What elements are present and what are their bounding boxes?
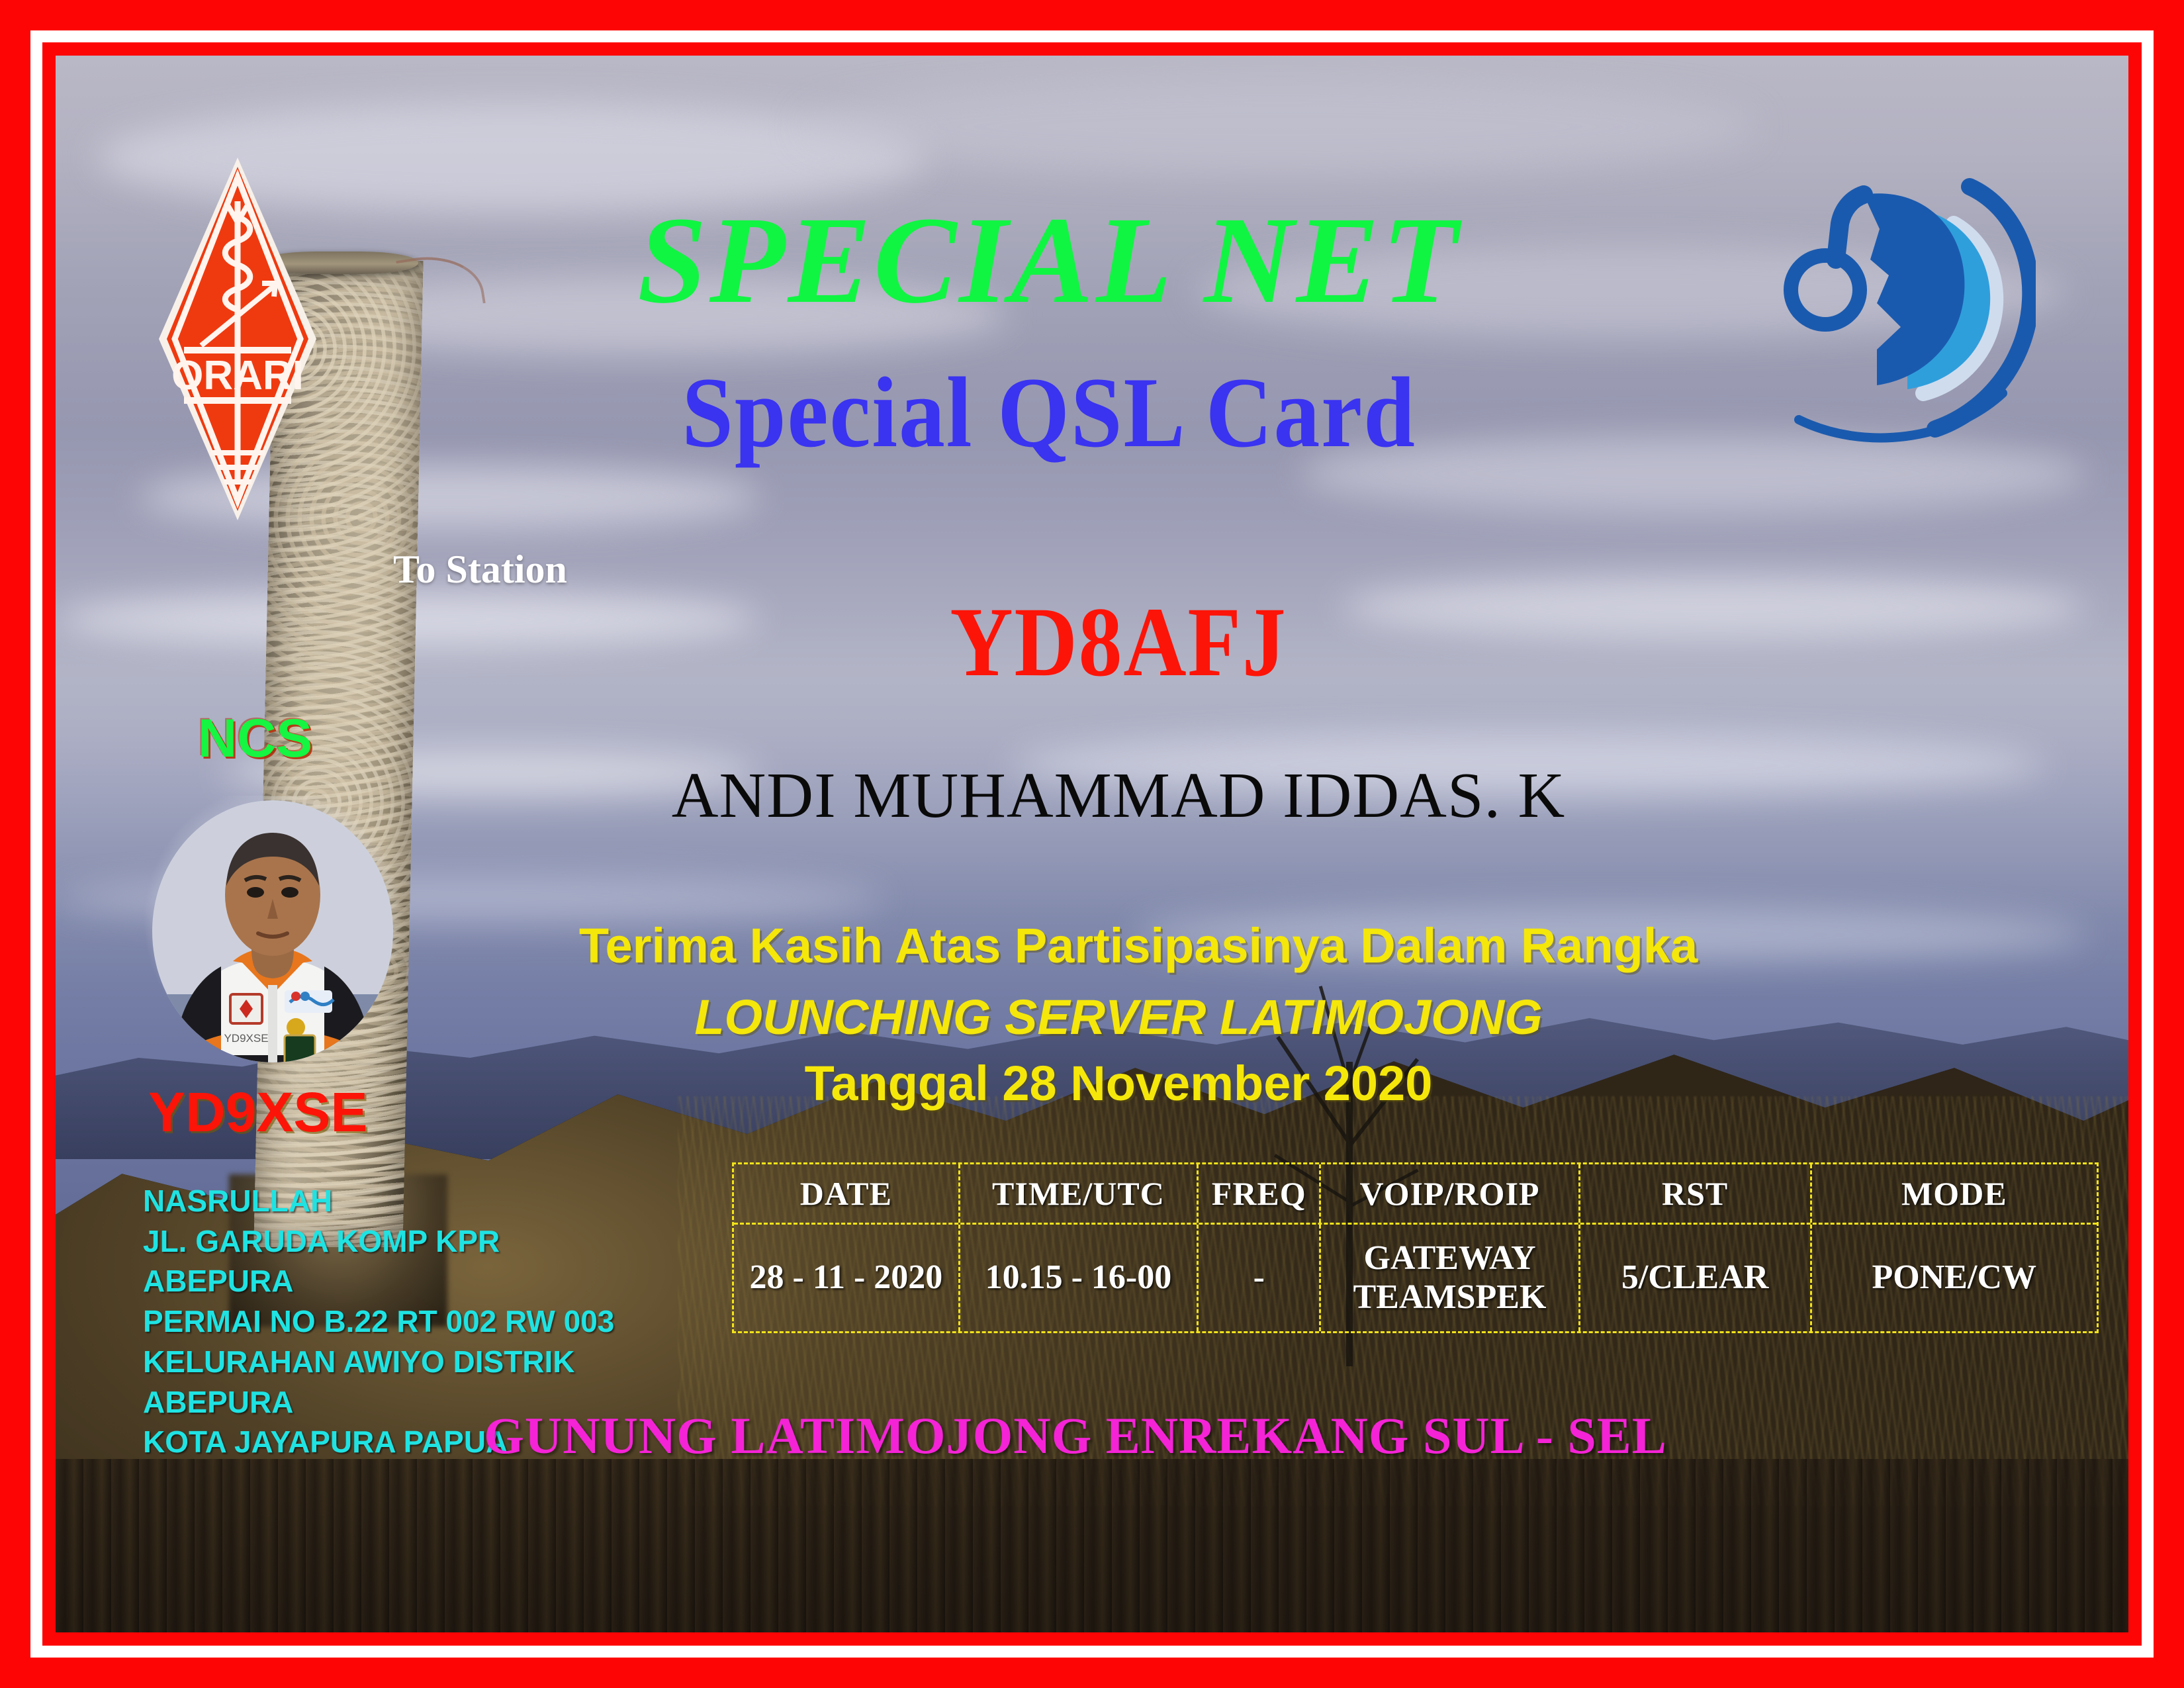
- table-cell-date: 28 - 11 - 2020: [734, 1225, 960, 1331]
- page-subtitle: Special QSL Card: [95, 355, 2002, 470]
- qso-table: DATE TIME/UTC FREQ VOIP/ROIP RST MODE 28…: [732, 1162, 2099, 1333]
- table-header-row: DATE TIME/UTC FREQ VOIP/ROIP RST MODE: [734, 1164, 2097, 1223]
- card-photo-background: ORARI SPECIAL NET Special QSL: [56, 56, 2128, 1632]
- table-header-voip-roip: VOIP/ROIP: [1321, 1164, 1580, 1223]
- ncs-label: NCS: [198, 708, 312, 770]
- footer-website: Address : amatir.latimojong.com: [1300, 1631, 1985, 1632]
- table-header-time: TIME/UTC: [960, 1164, 1199, 1223]
- table-cell-freq: -: [1199, 1225, 1321, 1331]
- avatar: YD9XSE: [134, 796, 412, 1067]
- table-cell-time: 10.15 - 16-00: [960, 1225, 1199, 1331]
- qsl-card: ORARI SPECIAL NET Special QSL: [0, 0, 2184, 1688]
- page-title: SPECIAL NET: [56, 188, 2085, 332]
- table-header-rst: RST: [1580, 1164, 1812, 1223]
- station-callsign: YD8AFJ: [206, 585, 2030, 699]
- location-label: GUNUNG LATIMOJONG ENREKANG SUL - SEL: [56, 1406, 2112, 1466]
- table-cell-voip-roip: GATEWAY TEAMSPEK: [1321, 1225, 1580, 1331]
- table-header-freq: FREQ: [1199, 1164, 1321, 1223]
- address-line: NASRULLAH: [143, 1181, 614, 1221]
- address-line: ABEPURA: [143, 1261, 614, 1301]
- table-header-mode: MODE: [1812, 1164, 2097, 1223]
- address-line: KELURAHAN AWIYO DISTRIK: [143, 1342, 614, 1382]
- table-cell-voip-roip-line2: TEAMSPEK: [1353, 1278, 1547, 1317]
- ncs-callsign: YD9XSE: [148, 1080, 368, 1145]
- dark-foreground-strip: [56, 1459, 2128, 1632]
- table-cell-mode: PONE/CW: [1812, 1225, 2097, 1331]
- table-row: 28 - 11 - 2020 10.15 - 16-00 - GATEWAY T…: [734, 1223, 2097, 1331]
- table-cell-rst: 5/CLEAR: [1580, 1225, 1812, 1331]
- table-header-date: DATE: [734, 1164, 960, 1223]
- cloud-band: [802, 79, 1756, 174]
- address-line: JL. GARUDA KOMP KPR: [143, 1221, 614, 1262]
- table-cell-voip-roip-line1: GATEWAY: [1363, 1239, 1535, 1278]
- avatar-shirt-callsign: YD9XSE: [224, 1032, 268, 1045]
- address-line: PERMAI NO B.22 RT 002 RW 003: [143, 1301, 614, 1342]
